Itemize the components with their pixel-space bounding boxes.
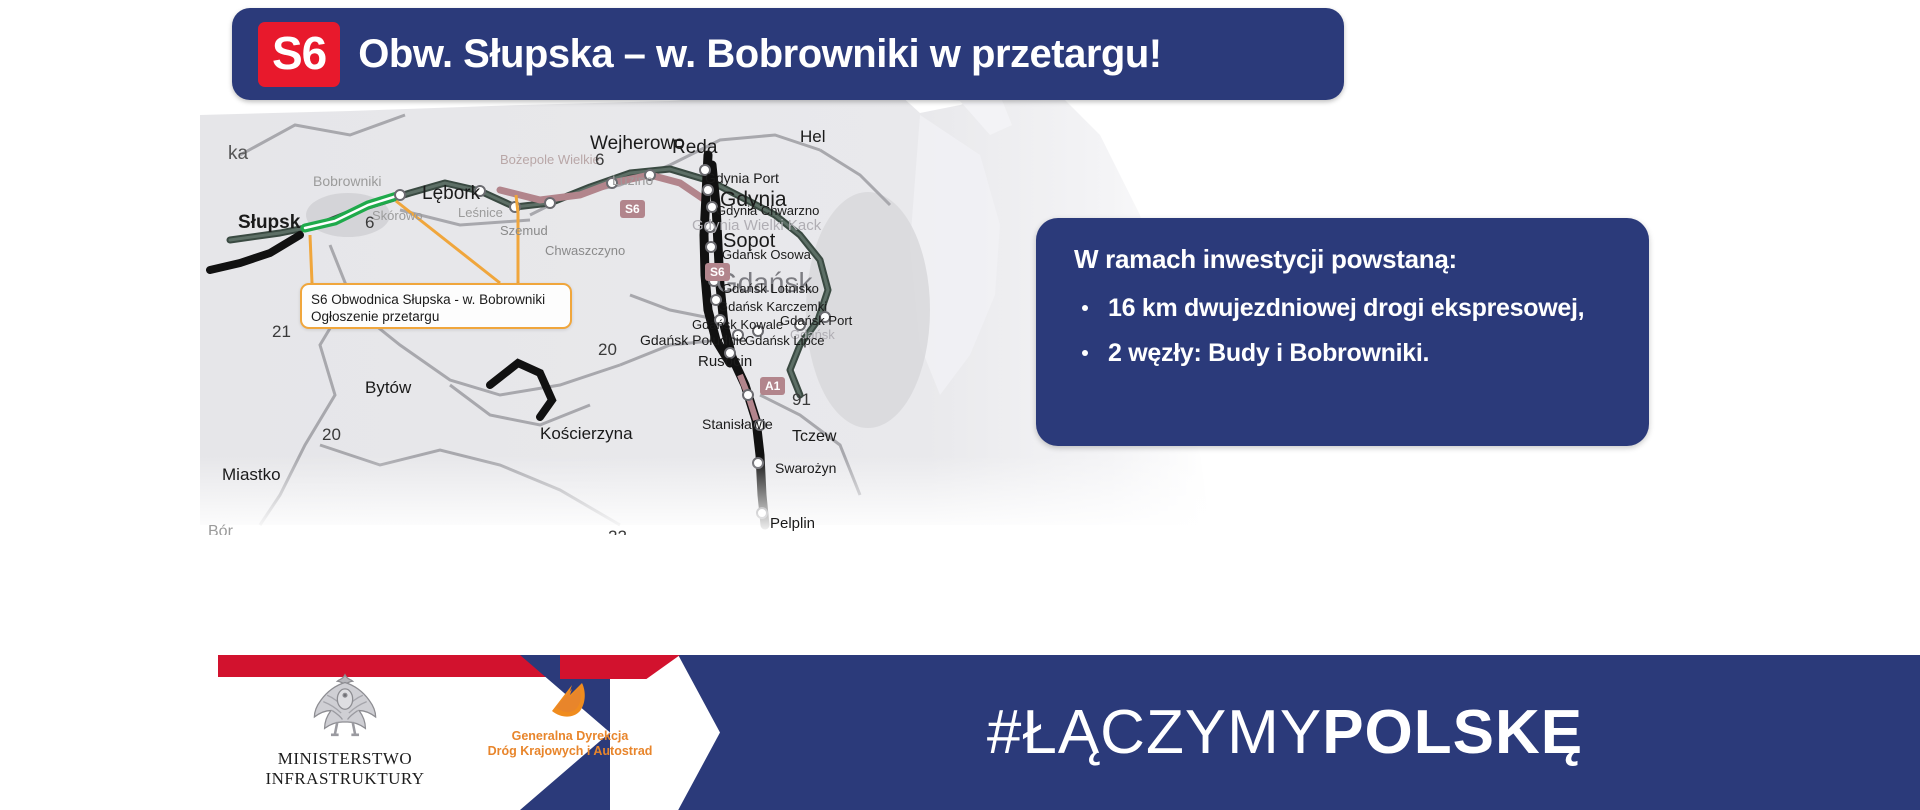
gddkia-eagle-icon <box>542 677 598 725</box>
ministry-logo-text: MINISTERSTWO INFRASTRUKTURY <box>265 749 424 789</box>
gddkia-logo-text: Generalna Dyrekcja Dróg Krajowych i Auto… <box>455 729 685 759</box>
eagle-emblem-svg <box>304 671 386 745</box>
page-title: Obw. Słupska – w. Bobrowniki w przetargu… <box>358 32 1161 77</box>
gddkia-line-2: Dróg Krajowych i Autostrad <box>455 744 685 759</box>
header-banner: S6 Obw. Słupska – w. Bobrowniki w przeta… <box>232 8 1344 100</box>
callout-line-1: S6 Obwodnica Słupska - w. Bobrowniki <box>311 291 561 308</box>
campaign-hashtag: #ŁĄCZYMYPOLSKĘ <box>720 655 1850 810</box>
info-bullet-label: 2 węzły: Budy i Bobrowniki. <box>1108 339 1429 367</box>
route-shield-s6: S6 <box>258 22 340 87</box>
bullet-dot-icon <box>1082 350 1088 356</box>
info-bullet-2: 2 węzły: Budy i Bobrowniki. <box>1074 338 1615 369</box>
infographic-canvas: kaSłupskBobrownikiLęborkSkórowoLeśniceBo… <box>0 0 1920 810</box>
polish-eagle-icon <box>301 669 389 747</box>
info-panel-bullet-list: 16 km dwujezdniowej drogi ekspresowej,2 … <box>1074 293 1615 369</box>
bullet-dot-icon <box>1082 305 1088 311</box>
map-callout-box: S6 Obwodnica Słupska - w. Bobrowniki Ogł… <box>300 283 572 329</box>
ministry-line-2: INFRASTRUKTURY <box>265 769 424 789</box>
info-bullet-1: 16 km dwujezdniowej drogi ekspresowej, <box>1074 293 1615 324</box>
gddkia-logo: Generalna Dyrekcja Dróg Krajowych i Auto… <box>455 677 685 797</box>
info-bullet-label: 16 km dwujezdniowej drogi ekspresowej, <box>1108 294 1584 322</box>
hashtag-light-part: #ŁĄCZYMY <box>987 697 1322 768</box>
info-panel-heading: W ramach inwestycji powstaną: <box>1074 244 1615 275</box>
footer-bar: #ŁĄCZYMYPOLSKĘ <box>0 655 1920 810</box>
gddkia-mark-svg <box>542 677 598 725</box>
ministry-line-1: MINISTERSTWO <box>265 749 424 769</box>
investment-info-panel: W ramach inwestycji powstaną: 16 km dwuj… <box>1036 218 1649 446</box>
hashtag-bold-part: POLSKĘ <box>1322 697 1583 768</box>
callout-line-2: Ogłoszenie przetargu <box>311 308 561 325</box>
gddkia-line-1: Generalna Dyrekcja <box>455 729 685 744</box>
ministry-logo: MINISTERSTWO INFRASTRUKTURY <box>250 669 440 799</box>
